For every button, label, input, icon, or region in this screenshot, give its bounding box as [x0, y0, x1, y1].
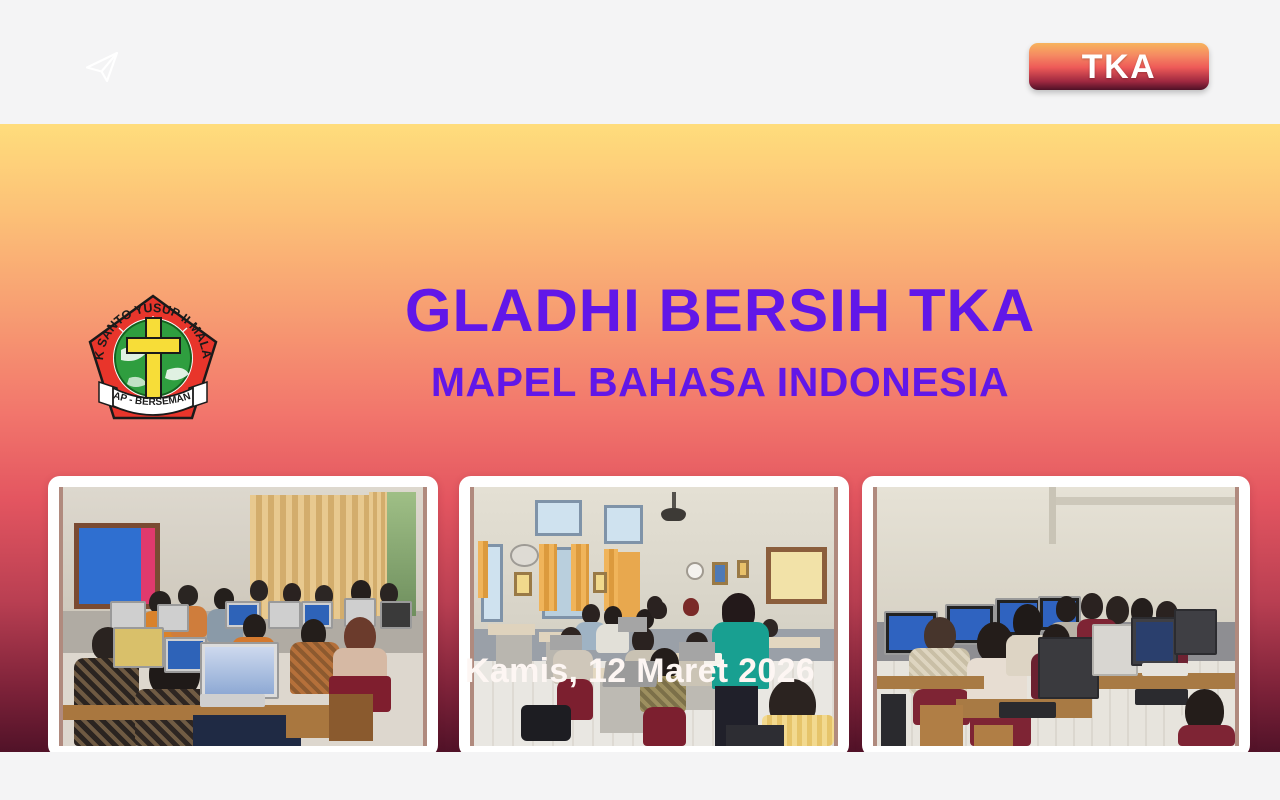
photo-computer-lab-monitors	[873, 487, 1239, 746]
slide-screen: TKA	[0, 0, 1280, 800]
photo-computer-lab-blue-board	[59, 487, 427, 746]
photo-card-3[interactable]	[862, 476, 1250, 752]
school-crest-icon: SDK SANTO YUSUP II MALANG TETAP - BERSEM…	[83, 290, 223, 430]
event-date: Kamis, 12 Maret 2026	[0, 652, 1280, 691]
top-toolbar: TKA	[0, 0, 1280, 124]
photo-card-2[interactable]	[459, 476, 849, 752]
paper-plane-icon[interactable]	[84, 50, 120, 84]
photo-card-1[interactable]	[48, 476, 438, 752]
slide-stage: SDK SANTO YUSUP II MALANG TETAP - BERSEM…	[0, 124, 1280, 752]
tka-badge[interactable]: TKA	[1029, 43, 1209, 90]
tka-badge-label: TKA	[1082, 50, 1156, 84]
page-title: GLADHI BERSIH TKA	[260, 279, 1180, 344]
page-subtitle: MAPEL BAHASA INDONESIA	[260, 360, 1180, 405]
title-block: GLADHI BERSIH TKA MAPEL BAHASA INDONESIA	[260, 279, 1180, 405]
photo-classroom-teacher	[470, 487, 838, 746]
photo-gallery	[0, 476, 1280, 752]
